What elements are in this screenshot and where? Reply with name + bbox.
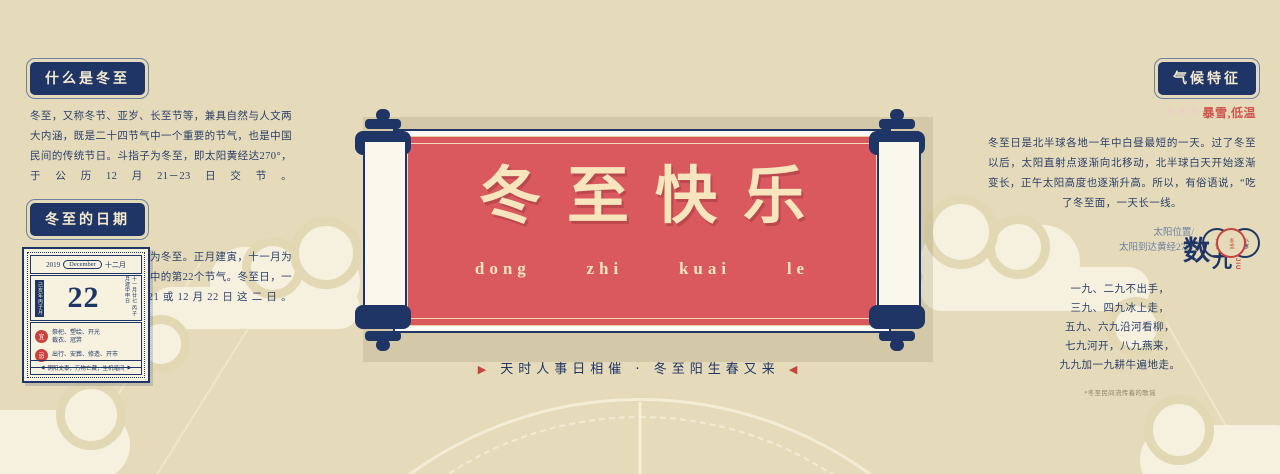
banner-red-field: 冬至快乐 dong zhi kuai le [400,136,884,326]
compass-vertical-line [639,402,642,474]
roller-tube [363,140,407,324]
pinyin-le: le [787,259,809,279]
calendar-day-section: 己亥年丙子月 22 十一月廿七 丙子月建甲申日 [30,275,142,321]
snowflake-icon: ❋ [1190,107,1199,118]
calendar-left-column: 己亥年丙子月 [35,280,44,317]
shujiu-song-line: 三九、四九冰上走， [1000,299,1240,318]
pinyin-kuai: kuai [679,259,731,279]
shujiu-song-line: 一九、二九不出手， [1000,280,1240,299]
shujiu-char-shu: 数 [1183,238,1210,265]
snowflake-icon: ❋ [1178,107,1187,118]
roller-tube [877,140,921,324]
poster-subtitle: ▶ 天时人事日相催 · 冬至阳生春又来 ◀ [0,358,1280,377]
scroll-roller-right [869,107,925,352]
shujiu-pinyin-jiu: JIU [1234,258,1240,270]
badge-climate-features: 气候特征 [1158,62,1256,95]
roller-knob-icon [376,339,390,351]
roller-cap-bottom [869,305,925,329]
calendar-month-en: December [63,260,102,269]
text-climate-description: 冬至日是北半球各地一年中白昼最短的一天。过了冬至以后，太阳直射点逐渐向北移动，北… [988,134,1256,214]
scroll-roller-left [355,107,411,352]
calendar-year: 2019 [46,261,60,269]
poster-canvas: 什么是冬至 冬至，又称冬节、亚岁、长至节等，兼具自然与人文两大内涵，既是二十四节… [0,0,1280,474]
right-info-panel: 气候特征 ❋ ❋ ❋ 暴雪,低温 冬至日是北半球各地一年中白昼最短的一天。过了冬… [988,0,1256,256]
badge-dongzhi-date: 冬至的日期 [30,203,145,236]
left-triangle-icon: ▶ [478,363,491,376]
shujiu-song-line: 五九、六九沿河看柳， [1000,318,1240,337]
calendar-good-text: 祭祀、塑绘、开光 裁衣、冠笄 [52,329,100,345]
calendar-good-line2: 裁衣、冠笄 [52,337,100,345]
solar-term-current: 冬至 [1216,228,1246,258]
calendar-right-column: 十一月廿七 丙子月建甲申日 [123,276,137,320]
compass-circle-dashed [288,416,992,474]
calendar-row-good: 宜 祭祀、塑绘、开光 裁衣、冠笄 [35,329,137,345]
banner-title-pinyin: dong zhi kuai le [401,259,883,279]
banner-panel: 冬至快乐 dong zhi kuai le [393,129,891,333]
text-what-is-dongzhi: 冬至，又称冬节、亚岁、长至节等，兼具自然与人文两大内涵，既是二十四节气中一个重要… [30,107,292,187]
pinyin-dong: dong [475,259,531,279]
roller-ring [879,119,915,129]
seal-good-icon: 宜 [35,330,48,343]
calendar-good-line1: 祭祀、塑绘、开光 [52,329,100,337]
roller-ring [365,119,401,129]
shujiu-song-line: 七九河开，八九燕来， [1000,337,1240,356]
roller-cap-bottom [355,305,411,329]
pinyin-zhi: zhi [587,259,624,279]
banner-title-chinese: 冬至快乐 [401,165,883,227]
calendar-header: 2019 December 十二月 [30,255,142,274]
roller-knob-icon [890,339,904,351]
compass-circle-outer [247,398,1033,474]
snowflake-icon: ❋ [1166,107,1175,118]
weather-label: 暴雪,低温 [1202,104,1256,121]
scroll-banner: 冬至快乐 dong zhi kuai le [355,107,925,352]
calendar-day-number: 22 [68,283,100,313]
right-triangle-icon: ◀ [789,363,802,376]
solar-term-current-label: 冬至 [1228,238,1234,249]
subtitle-text: 天时人事日相催 · 冬至阳生春又来 [500,362,779,377]
badge-what-is-dongzhi: 什么是冬至 [30,62,145,95]
shujiu-footnote: *冬至民间流传着的歌谣 [1000,387,1240,397]
calendar-month-cn: 十二月 [105,260,126,270]
weather-row: ❋ ❋ ❋ 暴雪,低温 [988,104,1256,121]
